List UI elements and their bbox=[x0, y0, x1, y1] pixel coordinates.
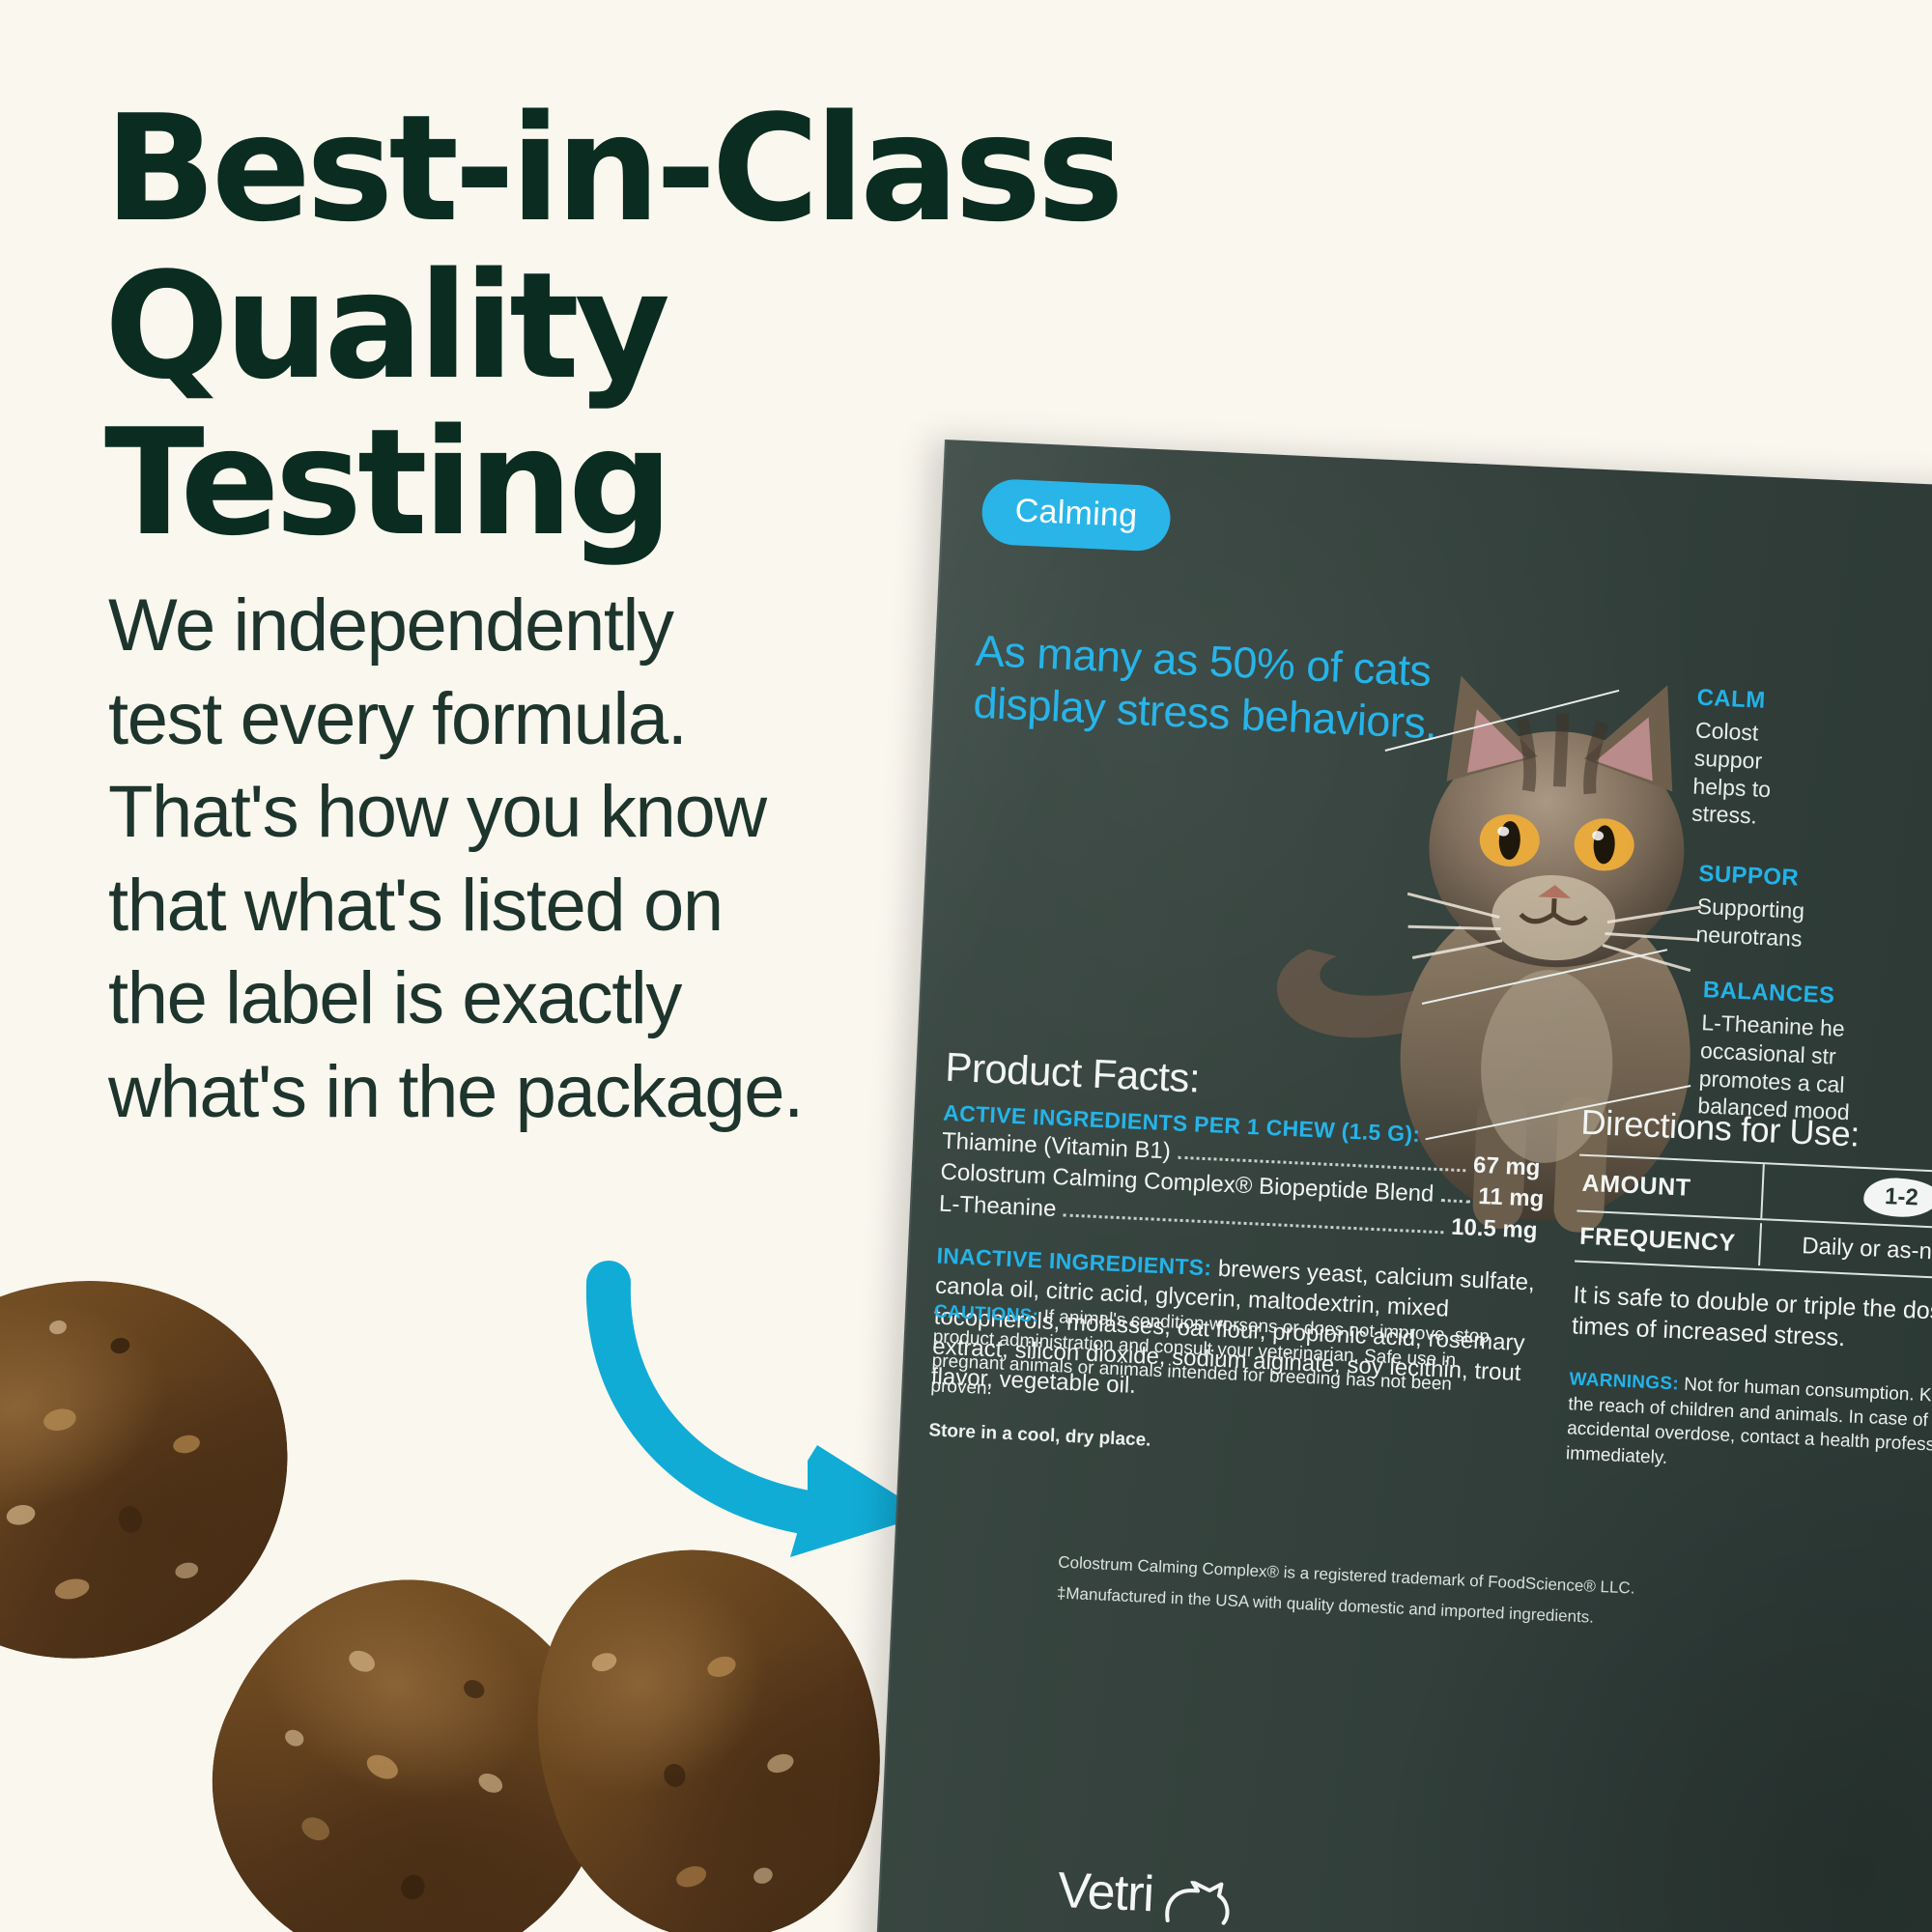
directions-panel: Directions for Use: AMOUNT 1-2 FREQUENCY… bbox=[1571, 1102, 1932, 1362]
directions-note: It is safe to double or triple the dose … bbox=[1571, 1279, 1932, 1361]
brand-logo: Vetri bbox=[1057, 1861, 1236, 1927]
ingredient-amount: 11 mg bbox=[1478, 1181, 1545, 1215]
directions-amount-label: AMOUNT bbox=[1577, 1161, 1763, 1213]
callout-body: Colost suppor helps to stress. bbox=[1691, 717, 1932, 841]
cat-head-icon bbox=[1162, 1880, 1236, 1927]
subcopy-line-6: what's in the package. bbox=[108, 1046, 997, 1140]
leader-dots bbox=[1064, 1213, 1443, 1234]
storage-instruction: Store in a cool, dry place. bbox=[928, 1418, 1509, 1469]
directions-amount-cell: 1-2 bbox=[1760, 1164, 1932, 1230]
subcopy-line-1: We independently bbox=[108, 580, 997, 673]
subcopy-line-2: test every formula. bbox=[108, 673, 997, 767]
callout-calms: CALM Colost suppor helps to stress. bbox=[1691, 685, 1932, 841]
footnotes-block: Colostrum Calming Complex® is a register… bbox=[1056, 1548, 1676, 1638]
product-package: Calming As many as 50% of cats display s… bbox=[874, 440, 1932, 1932]
headline-line-1: Best-in-Class bbox=[104, 83, 1120, 254]
subcopy-line-3: That's how you know bbox=[108, 766, 997, 860]
subcopy-line-5: the label is exactly bbox=[108, 952, 997, 1046]
ingredient-amount: 67 mg bbox=[1472, 1151, 1541, 1185]
callout-supports: SUPPOR Supporting neurotrans bbox=[1695, 861, 1932, 962]
ingredient-amount: 10.5 mg bbox=[1450, 1211, 1538, 1246]
cautions-block: CAUTIONS: If animal's condition worsens … bbox=[928, 1299, 1514, 1468]
ingredient-name: L-Theanine bbox=[938, 1188, 1057, 1225]
chew-treat-1 bbox=[0, 1242, 325, 1695]
brand-wordmark: Vetri bbox=[1057, 1861, 1155, 1923]
cautions-heading: CAUTIONS: bbox=[934, 1301, 1039, 1326]
warnings-block: WARNINGS: Not for human consumption. Kee… bbox=[1565, 1367, 1932, 1486]
marketing-image-canvas: Best-in-Class Quality Testing We indepen… bbox=[0, 0, 1932, 1932]
directions-table: AMOUNT 1-2 FREQUENCY Daily or as-needed bbox=[1575, 1154, 1932, 1283]
status-badge: Calming bbox=[980, 478, 1172, 553]
directions-frequency-label: FREQUENCY bbox=[1575, 1214, 1760, 1266]
subcopy-block: We independently test every formula. Tha… bbox=[108, 580, 997, 1139]
subcopy-line-4: that what's listed on bbox=[108, 860, 997, 953]
leader-dots bbox=[1441, 1200, 1470, 1204]
dose-badge: 1-2 bbox=[1862, 1177, 1932, 1219]
directions-frequency-cell: Daily or as-needed bbox=[1758, 1223, 1932, 1277]
warnings-heading: WARNINGS: bbox=[1569, 1369, 1679, 1394]
